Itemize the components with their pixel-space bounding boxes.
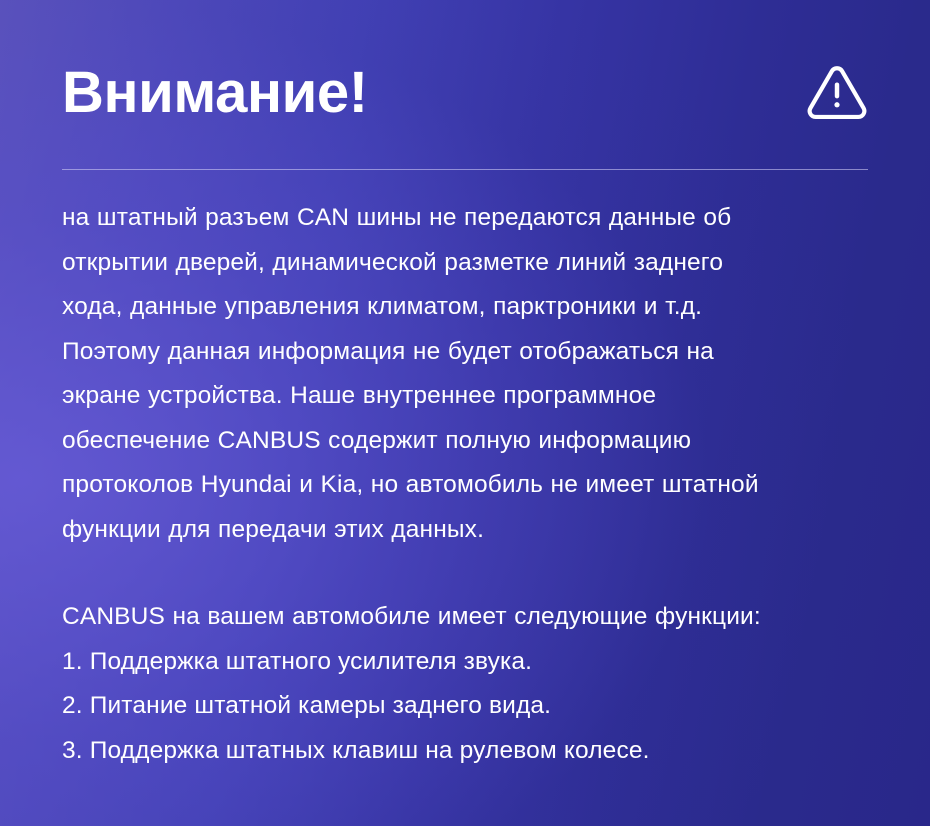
header-divider bbox=[62, 169, 868, 170]
page-title: Внимание! bbox=[62, 50, 368, 136]
paragraph-line: на штатный разъем CAN шины не передаются… bbox=[62, 196, 874, 241]
warning-triangle-icon bbox=[806, 61, 868, 123]
features-list: 1. Поддержка штатного усилителя звука. 2… bbox=[62, 640, 874, 774]
list-item: 3. Поддержка штатных клавиш на рулевом к… bbox=[62, 729, 874, 774]
poster-content: на штатный разъем CAN шины не передаются… bbox=[62, 196, 874, 773]
paragraph-line: протоколов Hyundai и Kia, но автомобиль … bbox=[62, 463, 874, 508]
notice-paragraph: на штатный разъем CAN шины не передаются… bbox=[62, 196, 874, 552]
paragraph-line: Поэтому данная информация не будет отобр… bbox=[62, 330, 874, 375]
list-item: 1. Поддержка штатного усилителя звука. bbox=[62, 640, 874, 685]
paragraph-line: хода, данные управления климатом, парктр… bbox=[62, 285, 874, 330]
paragraph-line: обеспечение CANBUS содержит полную инфор… bbox=[62, 419, 874, 464]
paragraph-line: функции для передачи этих данных. bbox=[62, 508, 874, 553]
list-item: 2. Питание штатной камеры заднего вида. bbox=[62, 684, 874, 729]
warning-notice-poster: Внимание! на штатный разъем CAN шины не … bbox=[0, 0, 930, 826]
features-intro-line: CANBUS на вашем автомобиле имеет следующ… bbox=[62, 595, 874, 640]
paragraph-spacer bbox=[62, 552, 874, 595]
poster-header: Внимание! bbox=[62, 50, 868, 140]
features-intro: CANBUS на вашем автомобиле имеет следующ… bbox=[62, 595, 874, 640]
paragraph-line: открытии дверей, динамической разметке л… bbox=[62, 241, 874, 286]
paragraph-line: экране устройства. Наше внутреннее прогр… bbox=[62, 374, 874, 419]
